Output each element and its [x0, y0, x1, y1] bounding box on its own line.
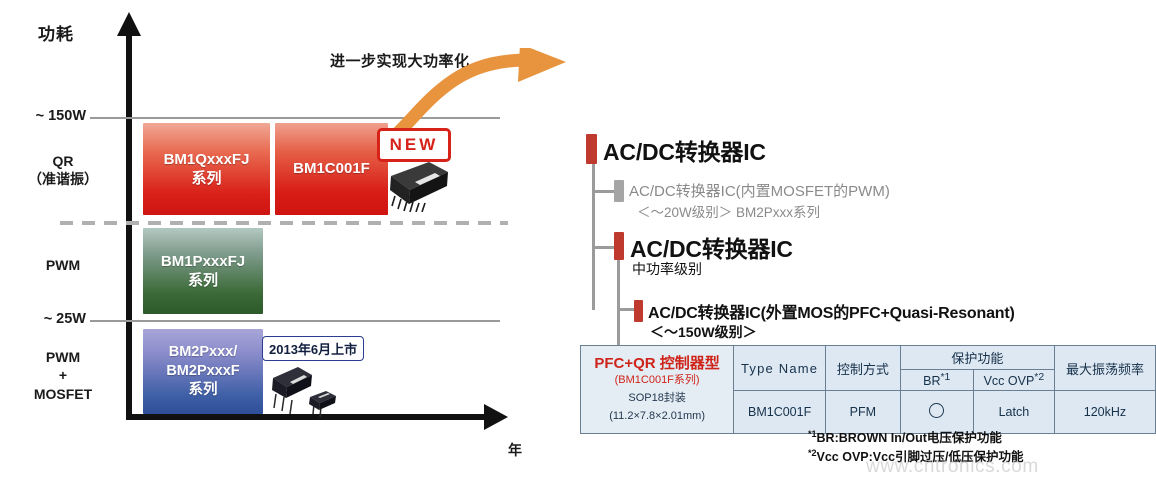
spec-table-header: PFC+QR 控制器型 (BM1C001F系列) SOP18封装 (11.2×7… — [581, 346, 1156, 434]
header-br: BR*1 — [900, 370, 973, 391]
header-vcc-ovp-label: Vcc OVP — [984, 374, 1035, 388]
release-callout: 2013年6月上市 — [262, 336, 364, 361]
y-tick-150w: ~ 150W — [6, 108, 86, 124]
product-box-bm1qxxxfj-line1: BM1QxxxFJ — [164, 150, 250, 170]
product-box-bm2pxxx-line2: BM2PxxxF — [166, 362, 239, 381]
dashed-divider-line — [60, 221, 508, 225]
header-protection-function: 保护功能 — [900, 346, 1054, 370]
product-box-bm2pxxx[interactable]: BM2Pxxx/ BM2PxxxF 系列 — [143, 329, 263, 414]
product-family-subtitle: (BM1C001F系列) — [585, 373, 729, 388]
product-hierarchy-panel: AC/DC转换器IC AC/DC转换器IC(内置MOSFET的PWM) ＜～20… — [576, 0, 1156, 483]
product-box-bm1pxxxfj[interactable]: BM1PxxxFJ 系列 — [143, 228, 263, 314]
watermark: www.cntronics.com — [866, 456, 1039, 478]
band-label-qr: QR （准谐振） — [2, 152, 124, 189]
band-label-pwm-mosfet-line1: PWM — [2, 348, 124, 366]
slide-root: 功耗 年 ~ 150W ~ 25W QR （准谐振） PWM PWM + MOS… — [0, 0, 1156, 483]
header-max-frequency: 最大振荡频率 — [1054, 346, 1155, 391]
product-box-bm2pxxx-line1: BM2Pxxx/ — [169, 343, 238, 362]
tree-branch-1 — [592, 190, 614, 193]
node-2-title: AC/DC转换器IC(内置MOSFET的PWM) — [629, 180, 890, 201]
y-axis-title: 功耗 — [38, 20, 74, 45]
band-label-pwm-mosfet-line3: MOSFET — [2, 385, 124, 403]
band-label-pwm: PWM — [2, 256, 124, 274]
band-label-pwm-mosfet-line2: + — [2, 366, 124, 384]
product-box-bm1pxxxfj-line1: BM1PxxxFJ — [161, 252, 245, 272]
cell-product-family: PFC+QR 控制器型 (BM1C001F系列) SOP18封装 (11.2×7… — [581, 346, 734, 434]
node-1-title: AC/DC转换器IC — [603, 133, 766, 167]
node-2-subtitle: ＜～20W级别＞ BM2Pxxx系列 — [637, 201, 820, 221]
node-3-subtitle: 中功率级别 — [632, 259, 702, 279]
band-label-qr-line2: （准谐振） — [2, 170, 124, 188]
table-header-row-1: PFC+QR 控制器型 (BM1C001F系列) SOP18封装 (11.2×7… — [581, 346, 1156, 370]
node-4-title: AC/DC转换器IC(外置MOS的PFC+Quasi-Resonant) — [648, 299, 1015, 323]
new-badge: NEW — [377, 128, 451, 162]
y-axis-line — [126, 30, 132, 420]
bullet-node-3 — [614, 232, 624, 260]
cell-max-frequency: 120kHz — [1054, 391, 1155, 434]
y-tick-25w: ~ 25W — [6, 311, 86, 327]
roadmap-chart: 功耗 年 ~ 150W ~ 25W QR （准谐振） PWM PWM + MOS… — [0, 0, 576, 483]
circle-mark-icon — [929, 403, 944, 418]
band-label-qr-line1: QR — [2, 152, 124, 170]
tree-branch-2 — [592, 246, 614, 249]
header-type-name: Type Name — [734, 346, 826, 391]
product-package-line1: SOP18封装 — [585, 391, 729, 406]
bullet-node-1 — [586, 134, 597, 164]
sop18-chip-image — [385, 160, 451, 212]
header-control-method: 控制方式 — [826, 346, 901, 391]
dip-chip-image — [268, 364, 348, 420]
header-vcc-ovp: Vcc OVP*2 — [973, 370, 1054, 391]
node-4-subtitle: ＜～150W级别＞ — [650, 322, 757, 342]
product-box-bm2pxxx-line3: 系列 — [189, 381, 218, 400]
footnote-1: *1BR:BROWN In/Out电压保护功能 — [808, 428, 1024, 447]
footnote-1-text: BR:BROWN In/Out电压保护功能 — [817, 431, 1002, 445]
bullet-node-2 — [614, 180, 624, 202]
spec-table: PFC+QR 控制器型 (BM1C001F系列) SOP18封装 (11.2×7… — [580, 345, 1156, 434]
product-box-bm1qxxxfj[interactable]: BM1QxxxFJ 系列 — [143, 123, 270, 215]
footnote-2-sup: *2 — [808, 448, 817, 458]
tree-trunk-line — [592, 160, 595, 310]
product-box-bm1c001f[interactable]: BM1C001F — [275, 123, 388, 215]
footnote-1-sup: *1 — [808, 429, 817, 439]
tree-branch-3 — [617, 308, 635, 311]
bullet-node-4 — [634, 300, 643, 322]
product-family-title: PFC+QR 控制器型 — [585, 355, 729, 372]
header-br-sup: *1 — [941, 372, 951, 383]
product-package-line2: (11.2×7.8×2.01mm) — [585, 409, 729, 424]
header-vcc-ovp-sup: *2 — [1034, 372, 1044, 383]
product-box-bm1qxxxfj-line2: 系列 — [191, 169, 221, 189]
product-box-bm1pxxxfj-line2: 系列 — [188, 271, 218, 291]
x-axis-arrow-icon — [484, 404, 508, 430]
gridline-25w — [90, 320, 500, 322]
header-br-label: BR — [923, 374, 940, 388]
x-axis-title: 年 — [508, 440, 522, 460]
band-label-pwm-mosfet: PWM + MOSFET — [2, 348, 124, 403]
product-box-bm1c001f-line1: BM1C001F — [293, 159, 370, 179]
